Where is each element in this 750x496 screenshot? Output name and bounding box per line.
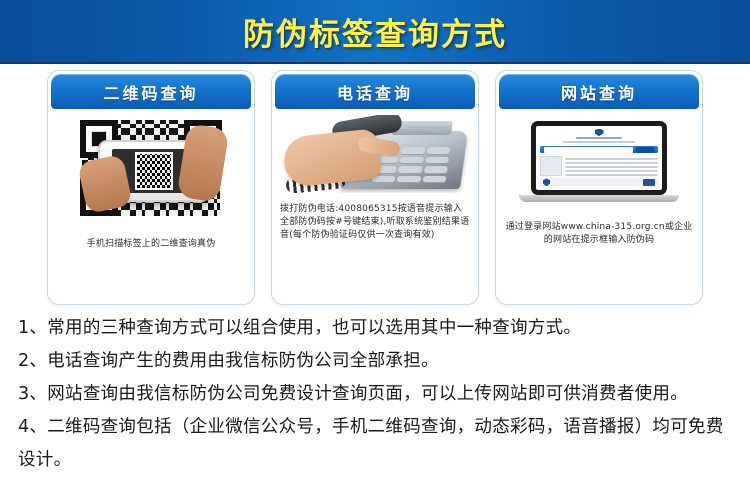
page-root: 防伪标签查询方式 二维码查询 [0,0,750,496]
site-thumbnail [540,156,562,176]
card-qr-query[interactable]: 二维码查询 [47,70,255,305]
card-qr-query-title: 二维码查询 [103,80,198,104]
laptop-illustration [504,115,694,207]
card-phone-query[interactable]: 电话查询 拨打防伪电话:4008065315按语音提示输入全部防伪码按#号键结束… [271,70,479,305]
telephone-illustration [280,115,470,193]
site-search-bar [540,146,658,154]
laptop-icon [531,121,667,202]
card-qr-query-caption: 手机扫描标签上的二维查询真伪 [87,238,216,251]
website-screen [536,126,662,190]
page-banner: 防伪标签查询方式 [0,0,750,64]
card-phone-query-title: 电话查询 [337,80,413,104]
footer-logo-icon [643,179,655,186]
note-item-2: 2、电话查询产生的费用由我信标防伪公司全部承担。 [18,345,732,378]
footer-shield-icon [543,178,550,186]
site-subtitle-placeholder [563,141,635,142]
card-phone-query-header: 电话查询 [275,74,475,109]
note-item-1: 1、常用的三种查询方式可以组合使用，也可以选用其中一种查询方式。 [18,312,732,345]
card-website-query-title: 网站查询 [561,80,637,104]
notes-list: 1、常用的三种查询方式可以组合使用，也可以选用其中一种查询方式。 2、电话查询产… [0,312,750,477]
query-method-cards: 二维码查询 [0,70,750,305]
shield-icon [595,129,604,137]
card-website-query-caption: 通过登录网站www.china-315.org.cn或企业的网站在提示框输入防伪… [504,221,694,247]
note-item-3: 3、网站查询由我信标防伪公司免费设计查询页面，可以上传网站即可供消费者使用。 [18,378,732,411]
card-qr-query-header: 二维码查询 [51,74,251,109]
site-footer [540,178,658,186]
card-qr-query-body: 手机扫描标签上的二维查询真伪 [48,109,254,304]
laptop-base [519,195,679,202]
card-website-query-body: 通过登录网站www.china-315.org.cn或企业的网站在提示框输入防伪… [496,109,702,304]
site-title-placeholder [576,137,622,139]
site-content [540,156,658,176]
qr-scan-illustration [56,115,246,220]
card-phone-query-caption: 拨打防伪电话:4008065315按语音提示输入全部防伪码按#号键结束),听取系… [280,203,470,242]
site-search-input [544,147,633,153]
card-website-query-header: 网站查询 [499,74,699,109]
note-item-4: 4、二维码查询包括（企业微信公众号，手机二维码查询，动态彩码，语音播报）均可免费… [18,411,732,477]
page-title: 防伪标签查询方式 [243,9,507,54]
card-website-query[interactable]: 网站查询 [495,70,703,305]
phone-screen-qr-icon [135,152,173,190]
card-phone-query-body: 拨打防伪电话:4008065315按语音提示输入全部防伪码按#号键结束),听取系… [272,109,478,304]
site-paragraph [565,156,658,176]
site-search-button [636,147,654,153]
